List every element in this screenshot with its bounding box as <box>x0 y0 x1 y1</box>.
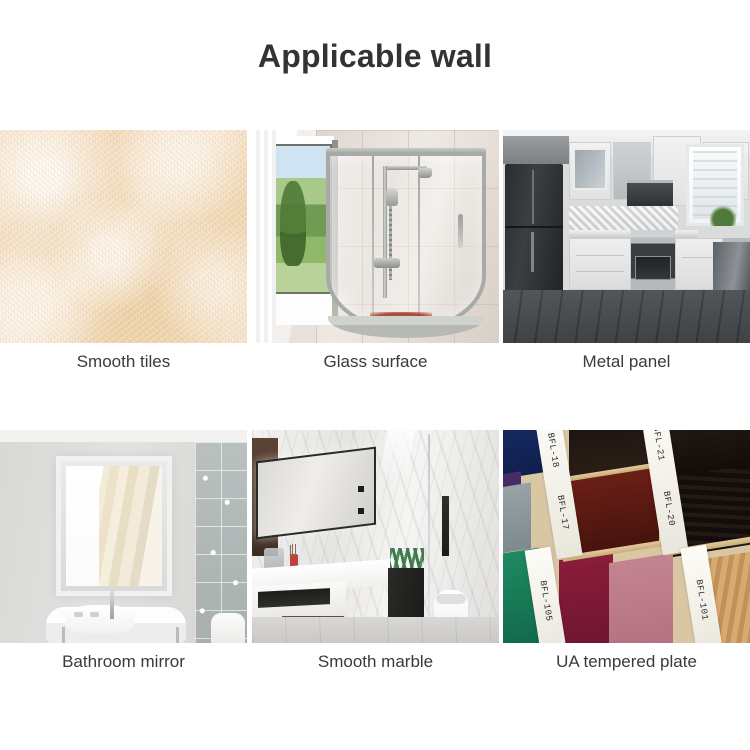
stainless-range <box>631 230 675 292</box>
page-title: Applicable wall <box>0 38 750 75</box>
grid-cell-smooth-tiles[interactable] <box>0 130 247 343</box>
photo-smooth-marble <box>252 430 499 643</box>
mirror-fixing-dot <box>358 508 364 514</box>
applicable-wall-infographic: Applicable wall <box>0 0 750 750</box>
grid-cell-smooth-marble[interactable] <box>252 430 499 643</box>
sample-label: BFL-18 <box>545 432 560 469</box>
backlit-mirror <box>256 447 376 540</box>
grid-cell-ua-tempered-plate[interactable]: BFL-18 BFL-17 BFL-21 BFL-20 BFL-105 BFL-… <box>503 430 750 643</box>
curtain <box>252 130 276 343</box>
basin-bowl <box>66 605 134 633</box>
grid-cell-bathroom-mirror[interactable] <box>0 430 247 643</box>
sample-plate-grey <box>503 483 531 556</box>
refrigerator-handle <box>531 232 534 272</box>
sample-label: BFL-21 <box>651 430 666 462</box>
tile-texture-speckle <box>0 130 247 343</box>
sample-label: BFL-105 <box>537 580 553 622</box>
caption-bathroom-mirror: Bathroom mirror <box>0 652 247 672</box>
drawer-line <box>682 257 716 258</box>
wall-valve <box>90 612 99 617</box>
shower-hose <box>389 206 392 280</box>
marble-backsplash <box>569 206 678 232</box>
washbasin <box>46 607 186 643</box>
caption-glass-surface: Glass surface <box>252 352 499 372</box>
photo-metal-panel <box>503 130 750 343</box>
dark-tile-floor <box>503 290 750 343</box>
photo-bathroom-mirror <box>0 430 247 643</box>
shower-head <box>418 168 432 178</box>
glass-cabinet-door <box>573 148 607 190</box>
lower-cabinet <box>569 238 631 290</box>
caption-smooth-marble: Smooth marble <box>252 652 499 672</box>
faucet <box>110 591 114 619</box>
black-stainless-refrigerator <box>505 164 563 298</box>
sample-label: BFL-101 <box>693 579 709 621</box>
marble-floor <box>252 617 499 643</box>
mirror-fixing-dot <box>358 486 364 492</box>
photo-smooth-tiles <box>0 130 247 343</box>
upper-cabinet-left <box>503 136 569 164</box>
photo-ua-tempered-plate: BFL-18 BFL-17 BFL-21 BFL-20 BFL-105 BFL-… <box>503 430 750 643</box>
stainless-dishwasher <box>713 242 750 290</box>
sample-plate-crimson <box>559 552 613 643</box>
shower-column <box>442 496 449 556</box>
drawer-line <box>576 255 624 256</box>
sample-board-background: BFL-18 BFL-17 BFL-21 BFL-20 BFL-105 BFL-… <box>503 430 750 643</box>
sample-plate-rose <box>609 553 673 643</box>
basin-leg <box>176 627 179 643</box>
sample-label: BFL-17 <box>555 494 570 531</box>
white-chair <box>211 613 245 643</box>
caption-ua-tempered-plate: UA tempered plate <box>503 652 750 672</box>
shower-door-handle <box>458 214 463 248</box>
sample-label: BFL-20 <box>661 490 676 527</box>
wall-valve <box>74 612 83 617</box>
glass-shower-partition <box>428 434 430 634</box>
framed-mirror <box>56 456 172 596</box>
microwave-hood <box>627 180 673 206</box>
ceiling <box>0 430 247 442</box>
caption-smooth-tiles: Smooth tiles <box>0 352 247 372</box>
shower-mixer-valve <box>374 258 400 268</box>
basin-leg <box>62 627 65 643</box>
hand-shower <box>386 188 398 206</box>
potted-plant <box>710 204 736 226</box>
glass-panel-seam <box>372 156 374 332</box>
grid-cell-metal-panel[interactable] <box>503 130 750 343</box>
window-garden-view <box>274 144 332 294</box>
shower-riser-pole <box>383 166 387 298</box>
caption-metal-panel: Metal panel <box>503 352 750 372</box>
mirror-reflection <box>66 466 162 586</box>
glass-panel-seam <box>418 156 420 332</box>
grid-cell-glass-surface[interactable] <box>252 130 499 343</box>
photo-glass-surface <box>252 130 499 343</box>
drawer-line <box>576 271 624 272</box>
